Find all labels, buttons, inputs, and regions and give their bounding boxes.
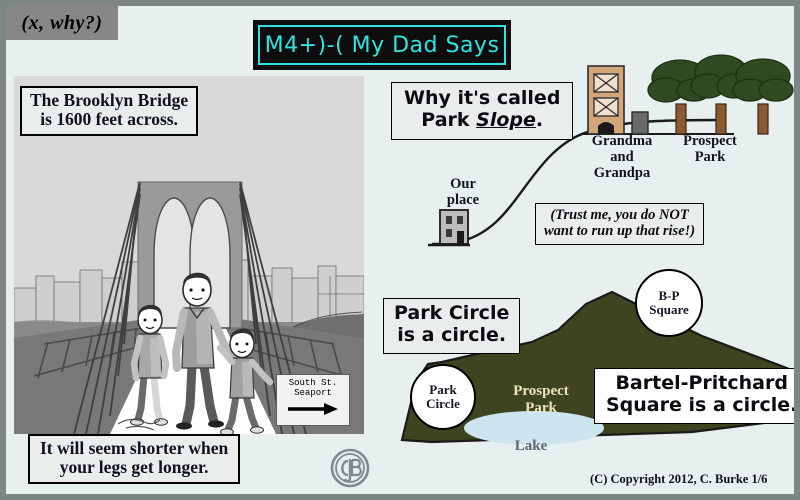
why-box-line2-suffix: . — [536, 109, 543, 131]
bridge-caption-bottom-line2: your legs get longer. — [40, 458, 228, 477]
right-arrow-icon — [286, 402, 340, 416]
title-banner-inner-border: M4+)-( My Dad Says — [258, 25, 506, 65]
map-label-lake: Lake — [498, 438, 564, 455]
park-circle-box-line2: is a circle. — [394, 325, 509, 347]
tree-right — [733, 59, 793, 134]
prospect-park-top-line2: Park — [671, 150, 749, 166]
why-box-slope-word: Slope — [476, 109, 536, 131]
bp-square-line2: Square — [649, 303, 689, 317]
grandparents-line3: Grandpa — [579, 166, 665, 182]
bridge-caption-top-line2: is 1600 feet across. — [30, 110, 188, 129]
copyright-notice: (C) Copyright 2012, C. Burke 1/6 — [590, 472, 767, 487]
bridge-caption-top: The Brooklyn Bridge is 1600 feet across. — [20, 86, 198, 136]
why-box-line2: Park Slope. — [404, 110, 560, 132]
label-prospect-park-top: Prospect Park — [671, 134, 749, 166]
our-place-line2: place — [432, 193, 494, 209]
bartel-pritchard-box: Bartel-Pritchard Square is a circle. — [594, 368, 800, 424]
page-title: M4+)-( My Dad Says — [265, 33, 500, 58]
grandparents-line1: Grandma — [579, 134, 665, 150]
artist-monogram-icon — [328, 446, 372, 490]
why-park-slope-box: Why it's called Park Slope. — [391, 82, 573, 140]
our-place-line1: Our — [432, 177, 494, 193]
bartel-box-line1: Bartel-Pritchard — [606, 373, 797, 395]
grandparents-line2: and — [579, 150, 665, 166]
bp-square-line1: B-P — [659, 289, 680, 303]
bartel-box-line2: Square is a circle. — [606, 395, 797, 417]
label-our-place: Our place — [432, 177, 494, 209]
park-circle-line1: Park — [429, 383, 456, 397]
park-circle-box-line1: Park Circle — [394, 303, 509, 325]
south-st-seaport-sign: South St. Seaport — [276, 374, 350, 426]
our-place-building — [428, 210, 470, 245]
trust-box-line2: want to run up that rise!) — [544, 223, 695, 239]
park-circle-line2: Circle — [426, 397, 460, 411]
site-tag-label: (x, why?) — [21, 12, 102, 35]
trust-box-line1: (Trust me, you do NOT — [544, 207, 695, 223]
map-label-prospect-park: Prospect Park — [495, 383, 587, 416]
prospect-park-top-line1: Prospect — [671, 134, 749, 150]
label-grandparents: Grandma and Grandpa — [579, 134, 665, 182]
park-circle-circle: Park Circle — [410, 364, 476, 430]
small-shed — [632, 112, 648, 134]
bridge-caption-bottom-line1: It will seem shorter when — [40, 439, 228, 458]
park-circle-box: Park Circle is a circle. — [383, 298, 520, 354]
seaport-sign-line2: Seaport — [294, 388, 332, 398]
why-box-line1: Why it's called — [404, 88, 560, 110]
bridge-caption-bottom: It will seem shorter when your legs get … — [28, 434, 240, 484]
bridge-caption-top-line1: The Brooklyn Bridge — [30, 91, 188, 110]
map-prospect-park-line1: Prospect — [495, 383, 587, 400]
site-tag: (x, why?) — [6, 6, 118, 40]
why-box-line2-prefix: Park — [421, 109, 476, 131]
comic-page: (x, why?) M4+)-( My Dad Says — [0, 0, 800, 500]
trust-me-box: (Trust me, you do NOT want to run up tha… — [535, 203, 704, 245]
title-banner: M4+)-( My Dad Says — [253, 20, 511, 70]
seaport-sign-line1: South St. — [289, 378, 338, 388]
bp-square-circle: B-P Square — [635, 269, 703, 337]
grandparents-building — [588, 66, 624, 134]
map-prospect-park-line2: Park — [495, 400, 587, 417]
